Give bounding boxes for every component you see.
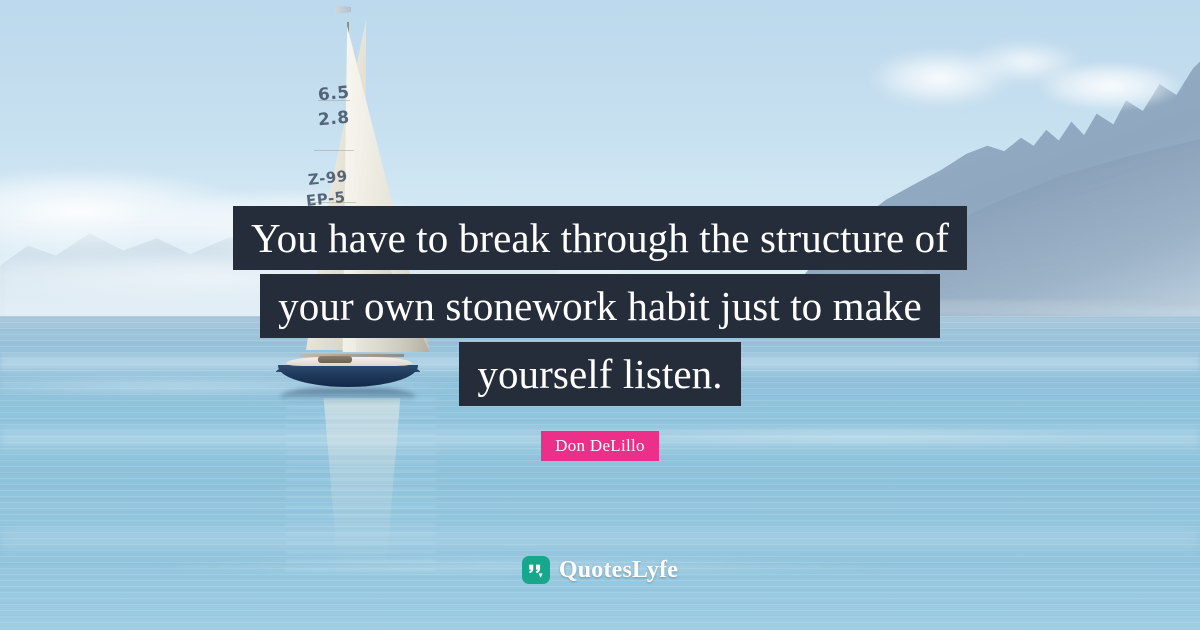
quote-bubble-icon [522, 556, 550, 584]
quote-line-1: You have to break through the structure … [233, 206, 967, 270]
brand-logo: QuotesLyfe [0, 556, 1200, 584]
quote-card: 6.5 2.8 Z-99 EP-5 You have to break thro… [0, 0, 1200, 630]
author-badge: Don DeLillo [0, 431, 1200, 461]
quote-line-3: yourself listen. [459, 342, 740, 406]
quote-text: You have to break through the structure … [0, 206, 1200, 406]
brand-name: QuotesLyfe [559, 556, 678, 584]
author-name: Don DeLillo [541, 431, 659, 461]
quote-line-2: your own stonework habit just to make [260, 274, 940, 338]
quote-overlay: You have to break through the structure … [0, 0, 1200, 630]
